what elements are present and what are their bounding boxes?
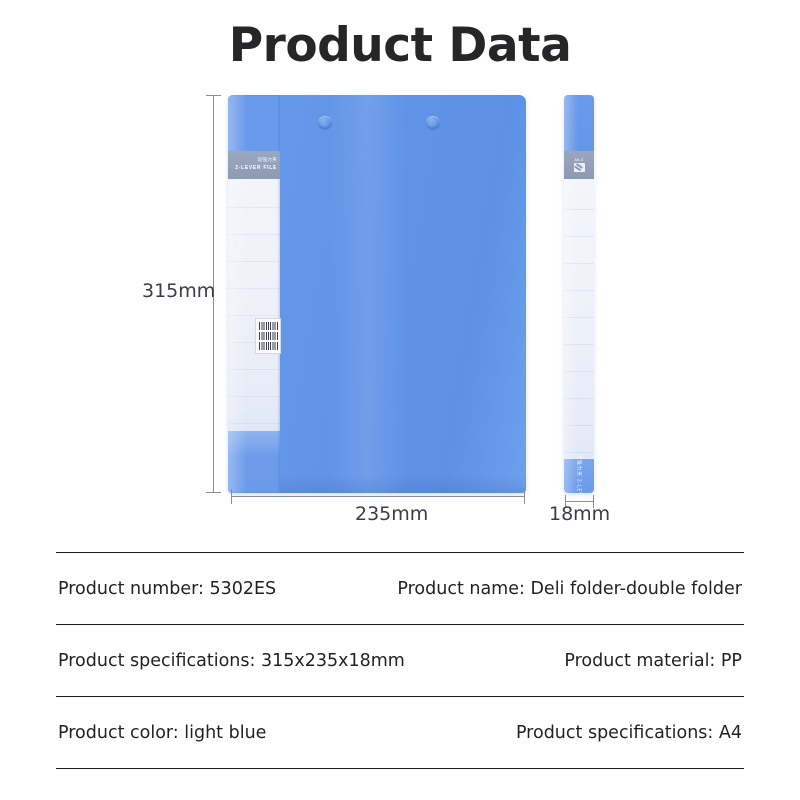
spec-row: Product number: 5302ES Product name: Del… — [56, 553, 744, 624]
spec-cell-right: Product material: PP — [564, 651, 742, 671]
height-dimension-tick-top — [206, 95, 221, 96]
barcode-bars — [259, 332, 278, 340]
height-dimension-tick-bottom — [206, 492, 221, 493]
side-product-label: A4-S — [564, 151, 594, 179]
barcode-sticker — [255, 318, 281, 354]
spec-row: Product color: light blue Product specif… — [56, 697, 744, 768]
clip-rivet-right-icon — [426, 116, 440, 129]
spec-cell-left: Product specifications: 315x235x18mm — [58, 651, 405, 671]
width-dimension-line — [231, 496, 525, 497]
front-cover-sheen — [329, 95, 406, 493]
side-label-cn-text: A4-S — [574, 158, 583, 162]
spec-cell-right: Product name: Deli folder-double folder — [397, 579, 742, 599]
spec-cell-left: Product color: light blue — [58, 723, 266, 743]
front-label-en-text: 2-LEVER FILE — [235, 165, 277, 173]
front-product-label: 双强力夹 2-LEVER FILE — [228, 151, 280, 179]
side-vertical-text: 双强力夹 2-LEVER FILE — [576, 454, 583, 493]
barcode-bars — [259, 322, 278, 330]
width-dimension-tick-right — [524, 489, 525, 504]
front-label-cn-text: 双强力夹 — [257, 158, 277, 165]
spec-divider — [56, 768, 744, 769]
spec-row: Product specifications: 315x235x18mm Pro… — [56, 625, 744, 696]
folder-side-view: A4-S 双强力夹 2-LEVER FILE deli — [564, 95, 594, 493]
depth-dimension-line — [565, 501, 594, 502]
height-dimension-label: 315mm — [142, 280, 215, 302]
side-label-pictogram-icon — [574, 163, 585, 172]
specifications-table: Product number: 5302ES Product name: Del… — [56, 552, 744, 769]
barcode-bars — [259, 342, 278, 350]
spec-cell-left: Product number: 5302ES — [58, 579, 276, 599]
width-dimension-tick-left — [231, 489, 232, 504]
clip-rivet-left-icon — [318, 116, 332, 129]
spec-cell-right: Product specifications: A4 — [516, 723, 742, 743]
depth-dimension-label: 18mm — [549, 503, 610, 525]
width-dimension-label: 235mm — [355, 503, 428, 525]
product-illustration: 双强力夹 2-LEVER FILE A4-S 双强力夹 2-LEVER FILE… — [0, 0, 800, 545]
